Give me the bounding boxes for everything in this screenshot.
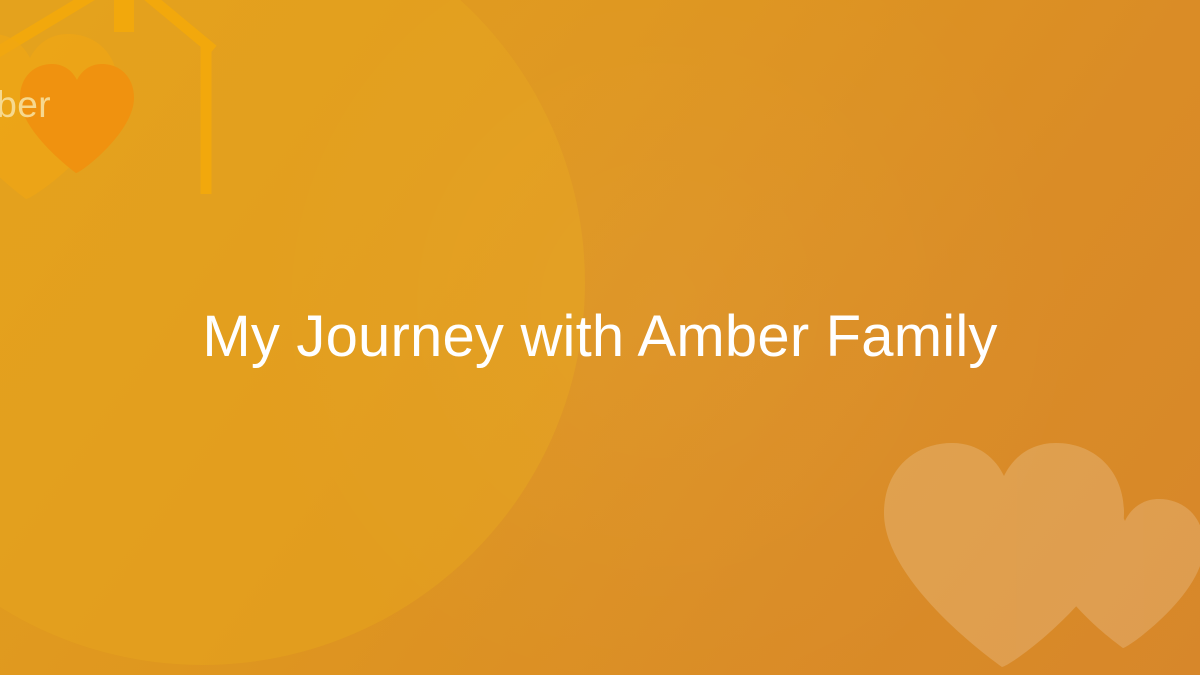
page-title: My Journey with Amber Family [202,305,997,369]
title-slide: Amber My Journey with Amber Family [0,0,1200,675]
title-container: My Journey with Amber Family [0,0,1200,675]
